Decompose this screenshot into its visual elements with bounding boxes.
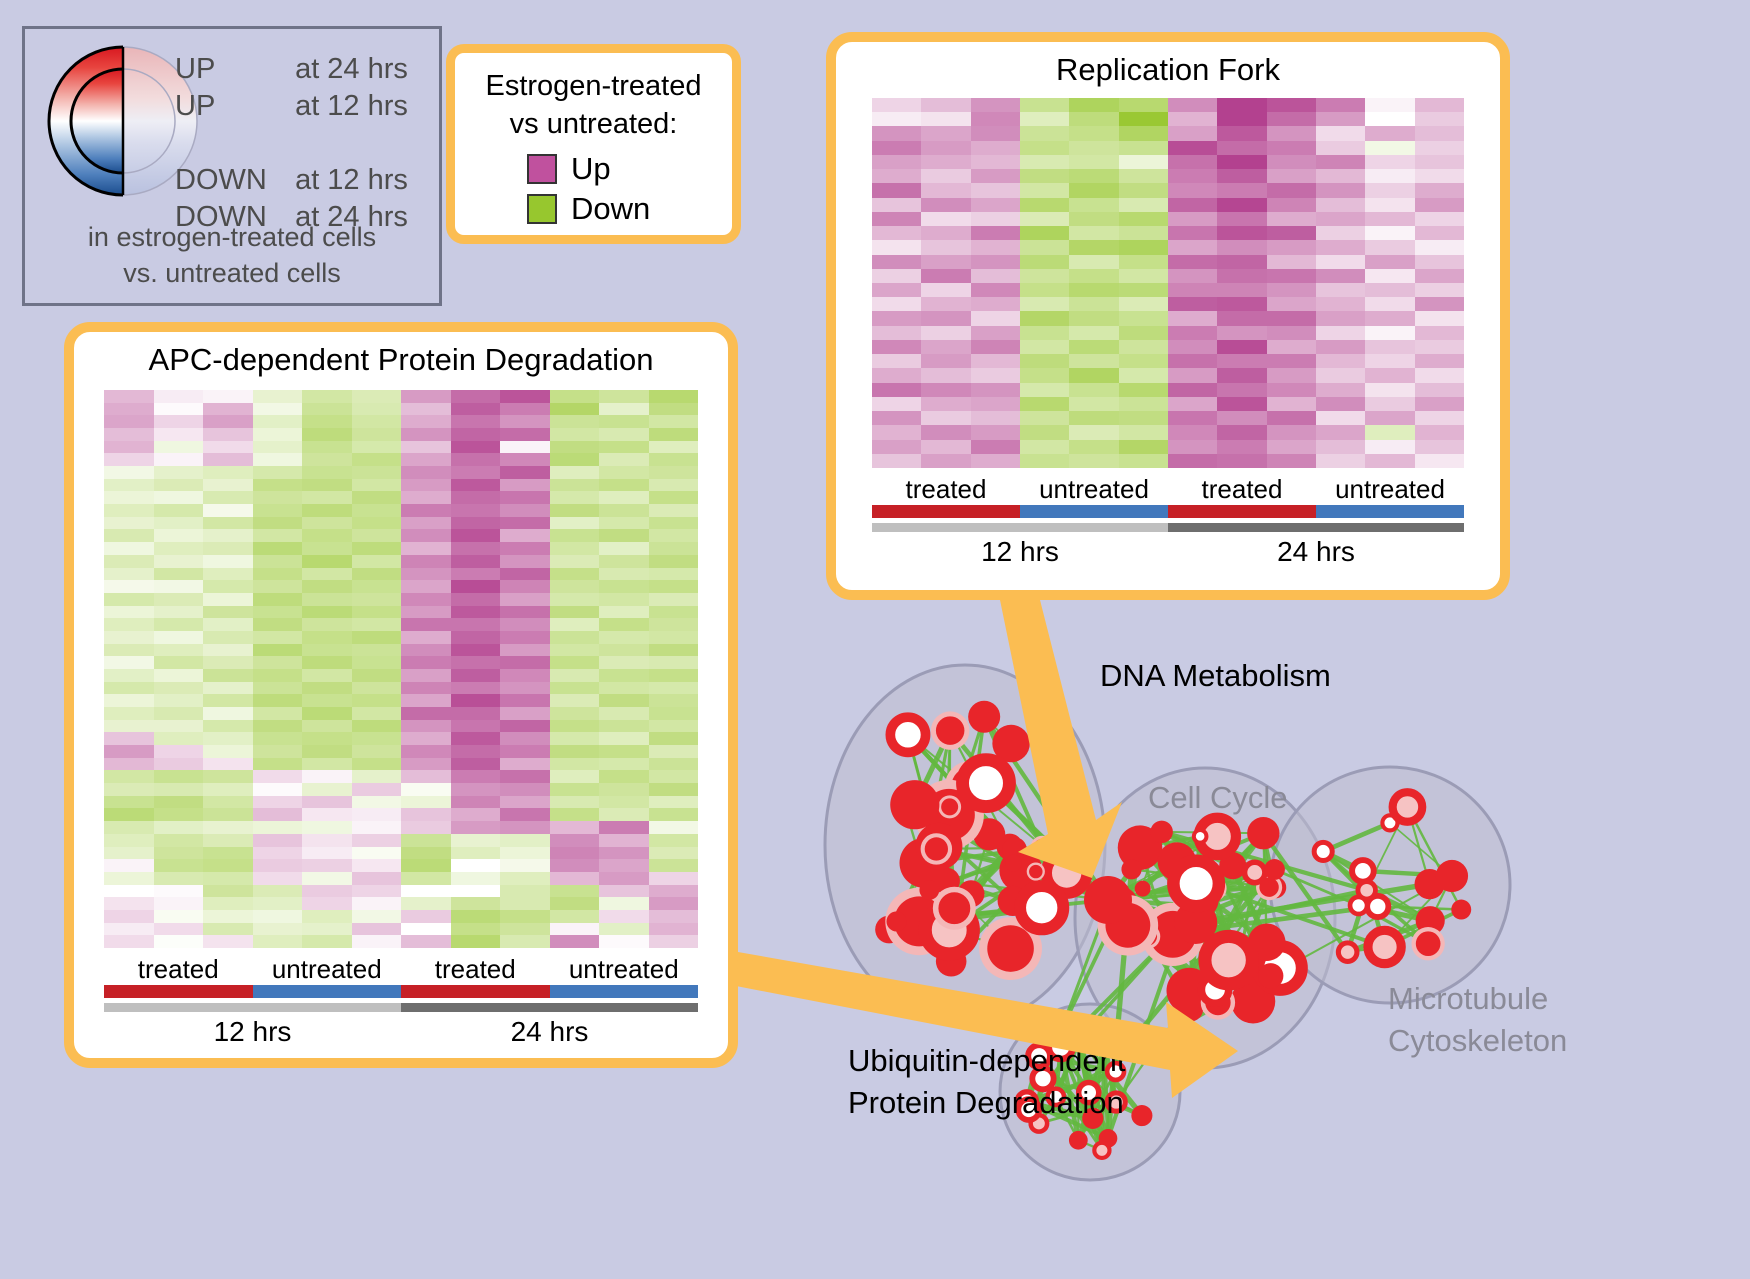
heatmap-cell <box>649 618 699 631</box>
heatmap-cell <box>253 390 303 403</box>
network-node[interactable] <box>919 880 939 900</box>
network-node[interactable] <box>1131 1105 1152 1126</box>
heatmap-cell <box>872 198 921 212</box>
network-node[interactable] <box>1005 855 1022 872</box>
heatmap-cell <box>253 529 303 542</box>
heatmap-cell <box>1119 183 1168 197</box>
heatmap-cell <box>203 504 253 517</box>
heatmap-cell <box>550 694 600 707</box>
heatmap-cell <box>1365 155 1414 169</box>
heatmap-cell <box>401 618 451 631</box>
heatmap-cell <box>599 453 649 466</box>
legend-key-up: Up <box>527 149 722 189</box>
heatmap-cell <box>649 669 699 682</box>
heatmap-cell <box>921 440 970 454</box>
heatmap-cell <box>872 311 921 325</box>
heatmap-cell <box>550 568 600 581</box>
heatmap-cell <box>302 720 352 733</box>
heatmap-cell <box>1020 240 1069 254</box>
heatmap-cell <box>1365 340 1414 354</box>
heatmap-cell <box>104 758 154 771</box>
heatmap-cell <box>154 720 204 733</box>
heatmap-cell <box>302 834 352 847</box>
network-node[interactable] <box>1020 886 1063 929</box>
heatmap-cell <box>203 466 253 479</box>
heatmap-cell <box>1365 255 1414 269</box>
heatmap-cell <box>1168 226 1217 240</box>
heatmap-cell <box>401 555 451 568</box>
network-node[interactable] <box>1084 876 1132 924</box>
heatmap-cell <box>500 707 550 720</box>
network-node[interactable] <box>963 760 1010 807</box>
heatmap-cell <box>550 669 600 682</box>
heatmap-cell <box>401 390 451 403</box>
heatmap-cell <box>253 859 303 872</box>
network-node[interactable] <box>968 701 1000 733</box>
heatmap-cell <box>451 453 501 466</box>
heatmap-cell <box>1069 425 1118 439</box>
heatmap-cell <box>154 542 204 555</box>
heatmap-cell <box>500 834 550 847</box>
heatmap-cell <box>1168 169 1217 183</box>
condition-bar-treated <box>104 985 253 998</box>
network-node[interactable] <box>1034 839 1051 856</box>
heatmap-cell <box>872 112 921 126</box>
condition-bar-untreated <box>550 985 699 998</box>
network-node[interactable] <box>1194 830 1207 843</box>
heatmap-cell <box>352 403 402 416</box>
heatmap-cell <box>550 821 600 834</box>
heatmap-cell <box>253 923 303 936</box>
heatmap-cell <box>550 580 600 593</box>
network-node[interactable] <box>1451 900 1471 920</box>
heatmap-cell <box>971 98 1020 112</box>
heatmap-cell <box>302 758 352 771</box>
heatmap-cell <box>1020 326 1069 340</box>
heatmap-cell <box>302 631 352 644</box>
heatmap-cell <box>451 529 501 542</box>
heatmap-cell <box>253 644 303 657</box>
heatmap-cell <box>1168 269 1217 283</box>
heatmap-cell <box>1316 340 1365 354</box>
heatmap-cell <box>1020 198 1069 212</box>
heatmap-cell <box>649 580 699 593</box>
network-node[interactable] <box>925 837 948 860</box>
heatmap-axis: treated untreated treated untreated 12 h… <box>104 954 698 1048</box>
network-node[interactable] <box>1069 1131 1088 1150</box>
heatmap-cell <box>401 682 451 695</box>
condition-label: untreated <box>253 954 402 985</box>
heatmap-cell <box>154 910 204 923</box>
heatmap-cell <box>500 644 550 657</box>
heatmap-cell <box>921 326 970 340</box>
heatmap-cell <box>203 580 253 593</box>
heatmap-cell <box>500 656 550 669</box>
condition-label: treated <box>1168 474 1316 505</box>
heatmap-cell <box>599 542 649 555</box>
time-bar-12hrs <box>104 1003 401 1012</box>
heatmap-cell <box>1020 126 1069 140</box>
heatmap-cell <box>451 415 501 428</box>
network-node[interactable] <box>938 892 970 924</box>
heatmap-cell <box>104 694 154 707</box>
heatmap-cell <box>401 707 451 720</box>
heatmap-cell <box>302 568 352 581</box>
heatmap-cell <box>352 491 402 504</box>
heatmap-cell <box>253 428 303 441</box>
network-node[interactable] <box>987 925 1034 972</box>
heatmap-cell <box>253 770 303 783</box>
heatmap-cell <box>1020 383 1069 397</box>
heatmap-cell <box>1267 326 1316 340</box>
network-node[interactable] <box>1121 859 1141 879</box>
heatmap-cell <box>253 910 303 923</box>
heatmap-cell <box>203 808 253 821</box>
heatmap-cell <box>649 593 699 606</box>
heatmap-apc-dependent-protein-degradation <box>104 390 698 948</box>
heatmap-cell <box>971 440 1020 454</box>
heatmap-cell <box>1119 240 1168 254</box>
heatmap-cell <box>500 415 550 428</box>
heatmap-cell <box>302 732 352 745</box>
heatmap-cell <box>500 783 550 796</box>
heatmap-cell <box>872 383 921 397</box>
heatmap-cell <box>649 491 699 504</box>
cluster-label-dna-metabolism: DNA Metabolism <box>1100 658 1331 694</box>
heatmap-cell <box>401 821 451 834</box>
heatmap-cell <box>1069 397 1118 411</box>
heatmap-cell <box>154 606 204 619</box>
heatmap-cell <box>1069 311 1118 325</box>
heatmap-cell <box>550 682 600 695</box>
heatmap-cell <box>203 682 253 695</box>
network-node[interactable] <box>1314 842 1332 860</box>
heatmap-cell <box>550 390 600 403</box>
heatmap-cell <box>921 226 970 240</box>
heatmap-cell <box>599 910 649 923</box>
heatmap-cell <box>971 411 1020 425</box>
heatmap-cell <box>1020 212 1069 226</box>
heatmap-cell <box>971 269 1020 283</box>
heatmap-cell <box>451 910 501 923</box>
heatmap-cell <box>1020 283 1069 297</box>
heatmap-cell <box>302 897 352 910</box>
network-node[interactable] <box>1205 936 1252 983</box>
heatmap-cell <box>872 98 921 112</box>
heatmap-cell <box>451 618 501 631</box>
heatmap-cell <box>921 141 970 155</box>
heatmap-cell <box>500 441 550 454</box>
heatmap-cell <box>1267 354 1316 368</box>
heatmap-cell <box>1365 169 1414 183</box>
heatmap-cell <box>1020 297 1069 311</box>
heatmap-cell <box>599 732 649 745</box>
heatmap-cell <box>1020 112 1069 126</box>
network-node[interactable] <box>1173 861 1219 907</box>
heatmap-cell <box>1365 297 1414 311</box>
heatmap-cell <box>1217 397 1266 411</box>
heatmap-cell <box>1168 126 1217 140</box>
heatmap-cell <box>302 517 352 530</box>
heatmap-cell <box>550 517 600 530</box>
heatmap-cell <box>1316 425 1365 439</box>
heatmap-cell <box>599 390 649 403</box>
heatmap-cell <box>1020 340 1069 354</box>
heatmap-cell <box>1316 383 1365 397</box>
heatmap-cell <box>872 126 921 140</box>
heatmap-cell <box>550 656 600 669</box>
heatmap-cell <box>104 441 154 454</box>
heatmap-cell <box>1168 311 1217 325</box>
heatmap-cell <box>1069 126 1118 140</box>
heatmap-cell <box>550 885 600 898</box>
heatmap-cell <box>1217 126 1266 140</box>
heatmap-cell <box>154 428 204 441</box>
heatmap-cell <box>1267 212 1316 226</box>
condition-label: treated <box>872 474 1020 505</box>
heatmap-cell <box>154 694 204 707</box>
heatmap-cell <box>253 618 303 631</box>
network-node[interactable] <box>1245 862 1265 882</box>
heatmap-cell <box>1316 198 1365 212</box>
network-node[interactable] <box>1436 860 1468 892</box>
network-node[interactable] <box>941 798 958 815</box>
network-node[interactable] <box>1029 865 1042 878</box>
heatmap-cell <box>1316 240 1365 254</box>
heatmap-cell <box>352 415 402 428</box>
heatmap-cell <box>1217 454 1266 468</box>
heatmap-cell <box>401 897 451 910</box>
heatmap-cell <box>104 517 154 530</box>
heatmap-color-legend: Estrogen-treated vs untreated: Up Down <box>446 44 741 244</box>
network-node[interactable] <box>936 716 964 744</box>
heatmap-cell <box>104 631 154 644</box>
heatmap-cell <box>599 529 649 542</box>
heatmap-cell <box>1119 354 1168 368</box>
heatmap-cell <box>649 568 699 581</box>
heatmap-cell <box>104 568 154 581</box>
heatmap-cell <box>1415 255 1464 269</box>
heatmap-cell <box>599 555 649 568</box>
heatmap-cell <box>401 669 451 682</box>
heatmap-cell <box>302 935 352 948</box>
heatmap-cell <box>154 669 204 682</box>
heatmap-cell <box>451 935 501 948</box>
heatmap-cell <box>971 183 1020 197</box>
heatmap-cell <box>104 910 154 923</box>
heatmap-cell <box>352 644 402 657</box>
heatmap-cell <box>104 732 154 745</box>
heatmap-cell <box>1217 112 1266 126</box>
heatmap-cell <box>203 491 253 504</box>
heatmap-cell <box>352 517 402 530</box>
heatmap-cell <box>550 415 600 428</box>
heatmap-cell <box>550 618 600 631</box>
heatmap-cell <box>1217 297 1266 311</box>
heatmap-cell <box>921 155 970 169</box>
network-node[interactable] <box>890 717 925 752</box>
heatmap-cell <box>104 923 154 936</box>
heatmap-cell <box>104 542 154 555</box>
network-node[interactable] <box>1094 1143 1109 1158</box>
heatmap-cell <box>1168 297 1217 311</box>
heatmap-cell <box>1069 155 1118 169</box>
heatmap-cell <box>872 454 921 468</box>
heatmap-cell <box>599 491 649 504</box>
heatmap-cell <box>599 847 649 860</box>
condition-label: treated <box>401 954 550 985</box>
time-label-12hrs: 12 hrs <box>872 536 1168 568</box>
heatmap-cell <box>1365 368 1414 382</box>
heatmap-cell <box>104 618 154 631</box>
pathway-network-diagram: DNA Metabolism Cell Cycle Microtubule Cy… <box>790 600 1750 1279</box>
heatmap-cell <box>302 821 352 834</box>
heatmap-cell <box>1365 397 1414 411</box>
heatmap-cell <box>104 453 154 466</box>
panel-title: Replication Fork <box>836 52 1500 88</box>
heatmap-cell <box>550 428 600 441</box>
heatmap-cell <box>649 847 699 860</box>
network-node[interactable] <box>1416 931 1441 956</box>
heatmap-cell <box>1316 155 1365 169</box>
heatmap-cell <box>1267 440 1316 454</box>
network-node[interactable] <box>1352 860 1374 882</box>
heatmap-cell <box>1217 326 1266 340</box>
heatmap-cell <box>500 897 550 910</box>
network-node[interactable] <box>1350 897 1367 914</box>
time-labels: 12 hrs 24 hrs <box>872 536 1464 568</box>
heatmap-cell <box>971 326 1020 340</box>
heatmap-cell <box>302 656 352 669</box>
heatmap-cell <box>451 758 501 771</box>
heatmap-cell <box>401 885 451 898</box>
heatmap-cell <box>203 885 253 898</box>
heatmap-cell <box>352 758 402 771</box>
heatmap-cell <box>550 758 600 771</box>
heatmap-cell <box>872 297 921 311</box>
condition-bar-treated <box>401 985 550 998</box>
heatmap-cell <box>203 745 253 758</box>
heatmap-cell <box>649 935 699 948</box>
network-node[interactable] <box>1264 859 1285 880</box>
heatmap-cell <box>1069 383 1118 397</box>
heatmap-cell <box>500 669 550 682</box>
heatmap-cell <box>921 397 970 411</box>
heatmap-cell <box>104 428 154 441</box>
heatmap-cell <box>1365 183 1414 197</box>
heatmap-cell <box>104 707 154 720</box>
heatmap-cell <box>352 770 402 783</box>
heatmap-cell <box>550 923 600 936</box>
network-node[interactable] <box>1393 792 1423 822</box>
heatmap-cell <box>1020 440 1069 454</box>
heatmap-cell <box>872 283 921 297</box>
heatmap-cell <box>154 885 204 898</box>
heatmap-cell <box>203 910 253 923</box>
network-node[interactable] <box>1258 963 1283 988</box>
heatmap-cell <box>599 885 649 898</box>
heatmap-cell <box>1217 368 1266 382</box>
condition-label: untreated <box>1020 474 1168 505</box>
heatmap-cell <box>1365 311 1414 325</box>
heatmap-cell <box>1316 169 1365 183</box>
heatmap-cell <box>253 885 303 898</box>
network-node[interactable] <box>890 780 939 829</box>
network-node[interactable] <box>1338 943 1357 962</box>
heatmap-cell <box>451 885 501 898</box>
heatmap-cell <box>1020 368 1069 382</box>
heatmap-cell <box>352 428 402 441</box>
heatmap-cell <box>599 783 649 796</box>
heatmap-cell <box>1415 383 1464 397</box>
heatmap-cell <box>451 644 501 657</box>
heatmap-cell <box>401 606 451 619</box>
heatmap-cell <box>1267 183 1316 197</box>
heatmap-cell <box>302 428 352 441</box>
heatmap-cell <box>253 517 303 530</box>
heatmap-cell <box>1365 283 1414 297</box>
heatmap-cell <box>1365 425 1414 439</box>
heatmap-cell <box>1365 354 1414 368</box>
heatmap-cell <box>1415 183 1464 197</box>
heatmap-cell <box>872 212 921 226</box>
heatmap-cell <box>253 453 303 466</box>
heatmap-cell <box>1020 397 1069 411</box>
network-node[interactable] <box>886 911 906 931</box>
heatmap-cell <box>302 923 352 936</box>
heatmap-cell <box>1020 354 1069 368</box>
heatmap-cell <box>1069 269 1118 283</box>
heatmap-cell <box>1415 411 1464 425</box>
network-node[interactable] <box>1368 930 1401 963</box>
network-node[interactable] <box>1150 821 1172 843</box>
condition-color-bar <box>872 505 1464 518</box>
condition-color-bar <box>104 985 698 998</box>
heatmap-cell <box>1168 368 1217 382</box>
heatmap-cell <box>971 198 1020 212</box>
heatmap-cell <box>1316 141 1365 155</box>
heatmap-cell <box>500 872 550 885</box>
heatmap-cell <box>253 821 303 834</box>
heatmap-cell <box>352 897 402 910</box>
network-node[interactable] <box>1135 881 1151 897</box>
time-color-bar <box>872 523 1464 532</box>
microtubule-line1: Microtubule <box>1388 978 1567 1020</box>
heatmap-cell <box>203 441 253 454</box>
heatmap-cell <box>352 923 402 936</box>
heatmap-cell <box>1267 269 1316 283</box>
heatmap-cell <box>599 770 649 783</box>
heatmap-cell <box>1316 354 1365 368</box>
network-node[interactable] <box>1247 817 1279 849</box>
heatmap-cell <box>154 390 204 403</box>
heatmap-cell <box>1217 354 1266 368</box>
heatmap-cell <box>1267 383 1316 397</box>
heatmap-cell <box>154 808 204 821</box>
heatmap-cell <box>649 859 699 872</box>
heatmap-cell <box>401 491 451 504</box>
heatmap-cell <box>302 872 352 885</box>
heatmap-cell <box>401 935 451 948</box>
heatmap-cell <box>401 504 451 517</box>
heatmap-cell <box>649 783 699 796</box>
heatmap-cell <box>1365 440 1414 454</box>
heatmap-cell <box>203 390 253 403</box>
heatmap-cell <box>1316 112 1365 126</box>
heatmap-cell <box>352 694 402 707</box>
heatmap-cell <box>921 212 970 226</box>
heatmap-cell <box>550 707 600 720</box>
